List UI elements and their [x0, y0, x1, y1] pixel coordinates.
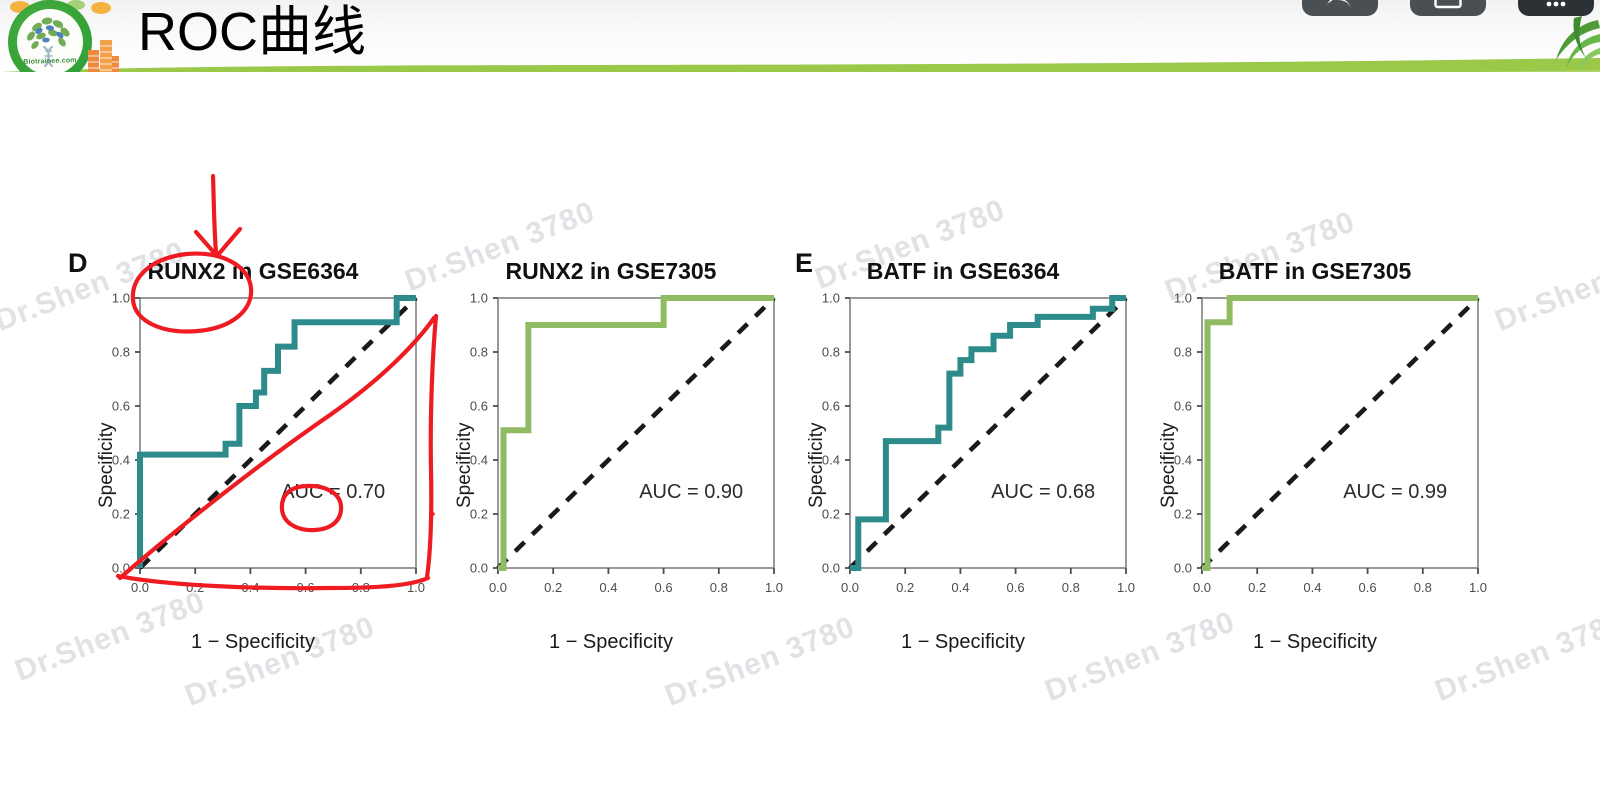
- x-tick-label: 0.4: [951, 580, 969, 595]
- x-tick-label: 0.4: [241, 580, 259, 595]
- chart-title: BATF in GSE7305: [1140, 258, 1490, 285]
- share-screen-button[interactable]: [1302, 0, 1378, 16]
- more-options-button[interactable]: [1518, 0, 1594, 16]
- roc-plot: 0.00.20.40.60.81.00.00.20.40.60.81.0AUC …: [1140, 286, 1490, 626]
- roc-plot: 0.00.20.40.60.81.00.00.20.40.60.81.0AUC …: [788, 286, 1138, 626]
- y-tick-label: 0.8: [112, 345, 130, 360]
- y-tick-label: 0.0: [112, 561, 130, 576]
- palm-leaf-decoration: [1528, 16, 1600, 74]
- logo-buildings-icon: [86, 32, 120, 72]
- y-tick-label: 0.0: [1174, 561, 1192, 576]
- x-tick-label: 0.2: [544, 580, 562, 595]
- y-tick-label: 0.2: [822, 507, 840, 522]
- roc-panel-runx2-gse7305: RUNX2 in GSE73050.00.20.40.60.81.00.00.2…: [436, 258, 786, 658]
- x-tick-label: 1.0: [407, 580, 425, 595]
- x-tick-label: 1.0: [765, 580, 783, 595]
- y-tick-label: 0.6: [470, 399, 488, 414]
- x-tick-label: 0.6: [1359, 580, 1377, 595]
- auc-label: AUC = 0.70: [281, 481, 385, 503]
- x-tick-label: 0.4: [1303, 580, 1321, 595]
- x-tick-label: 1.0: [1469, 580, 1487, 595]
- whiteboard-icon: [1434, 0, 1462, 10]
- y-tick-label: 0.2: [112, 507, 130, 522]
- y-tick-label: 0.8: [1174, 345, 1192, 360]
- x-axis-label: 1 − Specificity: [436, 631, 786, 654]
- x-tick-label: 0.0: [489, 580, 507, 595]
- watermark: Dr.Shen 3780: [1491, 235, 1600, 339]
- y-tick-label: 1.0: [822, 291, 840, 306]
- chart-title: RUNX2 in GSE7305: [436, 258, 786, 285]
- x-tick-label: 0.2: [1248, 580, 1266, 595]
- auc-label: AUC = 0.68: [991, 481, 1095, 503]
- y-axis-label: Specificity: [806, 422, 828, 508]
- page-title: ROC曲线: [138, 2, 366, 62]
- x-tick-label: 0.0: [1193, 580, 1211, 595]
- chart-title: RUNX2 in GSE6364: [78, 258, 428, 285]
- x-tick-label: 0.2: [186, 580, 204, 595]
- y-tick-label: 0.2: [1174, 507, 1192, 522]
- chart-title: BATF in GSE6364: [788, 258, 1138, 285]
- biotrainee-logo: Biotrainee.com: [2, 0, 120, 72]
- y-tick-label: 0.6: [112, 399, 130, 414]
- y-tick-label: 0.8: [822, 345, 840, 360]
- auc-label: AUC = 0.90: [639, 481, 743, 503]
- auc-label: AUC = 0.99: [1343, 481, 1447, 503]
- x-tick-label: 0.8: [352, 580, 370, 595]
- x-tick-label: 0.0: [131, 580, 149, 595]
- share-screen-icon: [1325, 0, 1355, 10]
- y-axis-label: Specificity: [454, 422, 476, 508]
- y-tick-label: 1.0: [470, 291, 488, 306]
- x-tick-label: 0.8: [1414, 580, 1432, 595]
- y-tick-label: 0.6: [1174, 399, 1192, 414]
- roc-figure-area: Dr.Shen 3780 Dr.Shen 3780 Dr.Shen 3780 D…: [0, 100, 1600, 800]
- y-axis-label: Specificity: [96, 422, 118, 508]
- y-tick-label: 0.8: [470, 345, 488, 360]
- x-tick-label: 0.6: [655, 580, 673, 595]
- y-tick-label: 1.0: [112, 291, 130, 306]
- x-tick-label: 0.8: [1062, 580, 1080, 595]
- roc-plot: 0.00.20.40.60.81.00.00.20.40.60.81.0AUC …: [436, 286, 786, 626]
- y-tick-label: 0.6: [822, 399, 840, 414]
- x-axis-label: 1 − Specificity: [1140, 631, 1490, 654]
- x-tick-label: 1.0: [1117, 580, 1135, 595]
- y-tick-label: 0.0: [822, 561, 840, 576]
- roc-plot: 0.00.20.40.60.81.00.00.20.40.60.81.0AUC …: [78, 286, 428, 626]
- x-tick-label: 0.6: [297, 580, 315, 595]
- x-tick-label: 0.4: [599, 580, 617, 595]
- roc-panel-batf-gse6364: BATF in GSE63640.00.20.40.60.81.00.00.20…: [788, 258, 1138, 658]
- whiteboard-button[interactable]: [1410, 0, 1486, 16]
- more-icon: [1542, 0, 1570, 10]
- y-tick-label: 1.0: [1174, 291, 1192, 306]
- x-tick-label: 0.8: [710, 580, 728, 595]
- y-tick-label: 0.0: [470, 561, 488, 576]
- y-axis-label: Specificity: [1158, 422, 1180, 508]
- x-tick-label: 0.0: [841, 580, 859, 595]
- x-tick-label: 0.6: [1007, 580, 1025, 595]
- roc-panel-runx2-gse6364: RUNX2 in GSE63640.00.20.40.60.81.00.00.2…: [78, 258, 428, 658]
- y-tick-label: 0.2: [470, 507, 488, 522]
- roc-panel-batf-gse7305: BATF in GSE73050.00.20.40.60.81.00.00.20…: [1140, 258, 1490, 658]
- x-axis-label: 1 − Specificity: [788, 631, 1138, 654]
- x-tick-label: 0.2: [896, 580, 914, 595]
- x-axis-label: 1 − Specificity: [78, 631, 428, 654]
